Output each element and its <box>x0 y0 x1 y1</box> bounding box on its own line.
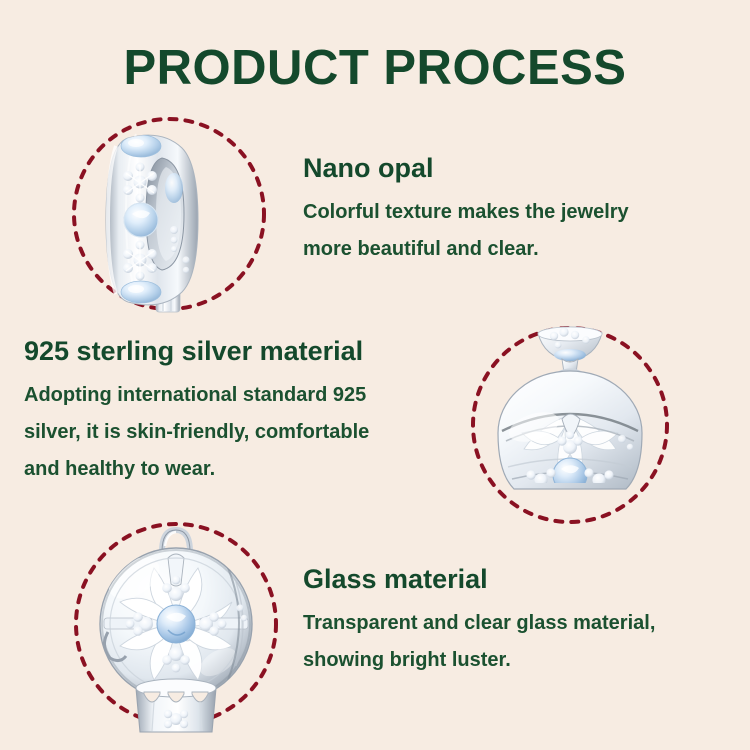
infographic-page: PRODUCT PROCESS <box>0 0 750 750</box>
block-heading-sterling-silver: 925 sterling silver material <box>24 335 369 367</box>
body-line: silver, it is skin-friendly, comfortable <box>24 414 369 451</box>
opal-stone <box>157 605 195 643</box>
body-line: Transparent and clear glass material, <box>303 605 655 642</box>
dangle-charm-photo <box>462 315 678 531</box>
charm-base-cylinder <box>136 679 216 732</box>
text-block-sterling-silver: 925 sterling silver material Adopting in… <box>24 335 369 488</box>
block-body-nano-opal: Colorful texture makes the jewelry more … <box>303 194 629 268</box>
body-line: and healthy to wear. <box>24 451 369 488</box>
charm-glass-ball <box>498 371 642 493</box>
body-line: showing bright luster. <box>303 642 655 679</box>
charm-glass-ball <box>100 548 252 700</box>
body-line: more beautiful and clear. <box>303 231 629 268</box>
block-heading-nano-opal: Nano opal <box>303 152 629 184</box>
spacer-ring-illustration <box>70 110 280 335</box>
block-heading-glass-material: Glass material <box>303 563 655 595</box>
body-line: Colorful texture makes the jewelry <box>303 194 629 231</box>
spacer-ring-photo <box>70 110 280 335</box>
block-body-sterling-silver: Adopting international standard 925 silv… <box>24 377 369 488</box>
page-title: PRODUCT PROCESS <box>0 40 750 96</box>
dangle-charm-illustration <box>462 315 678 531</box>
block-body-glass-material: Transparent and clear glass material, sh… <box>303 605 655 679</box>
glass-ball-charm-photo <box>68 512 284 738</box>
text-block-glass-material: Glass material Transparent and clear gla… <box>303 563 655 679</box>
charm-bail-cup <box>538 327 602 375</box>
glass-ball-charm-illustration <box>68 512 284 738</box>
opal-stone <box>554 349 586 361</box>
body-line: Adopting international standard 925 <box>24 377 369 414</box>
text-block-nano-opal: Nano opal Colorful texture makes the jew… <box>303 152 629 268</box>
